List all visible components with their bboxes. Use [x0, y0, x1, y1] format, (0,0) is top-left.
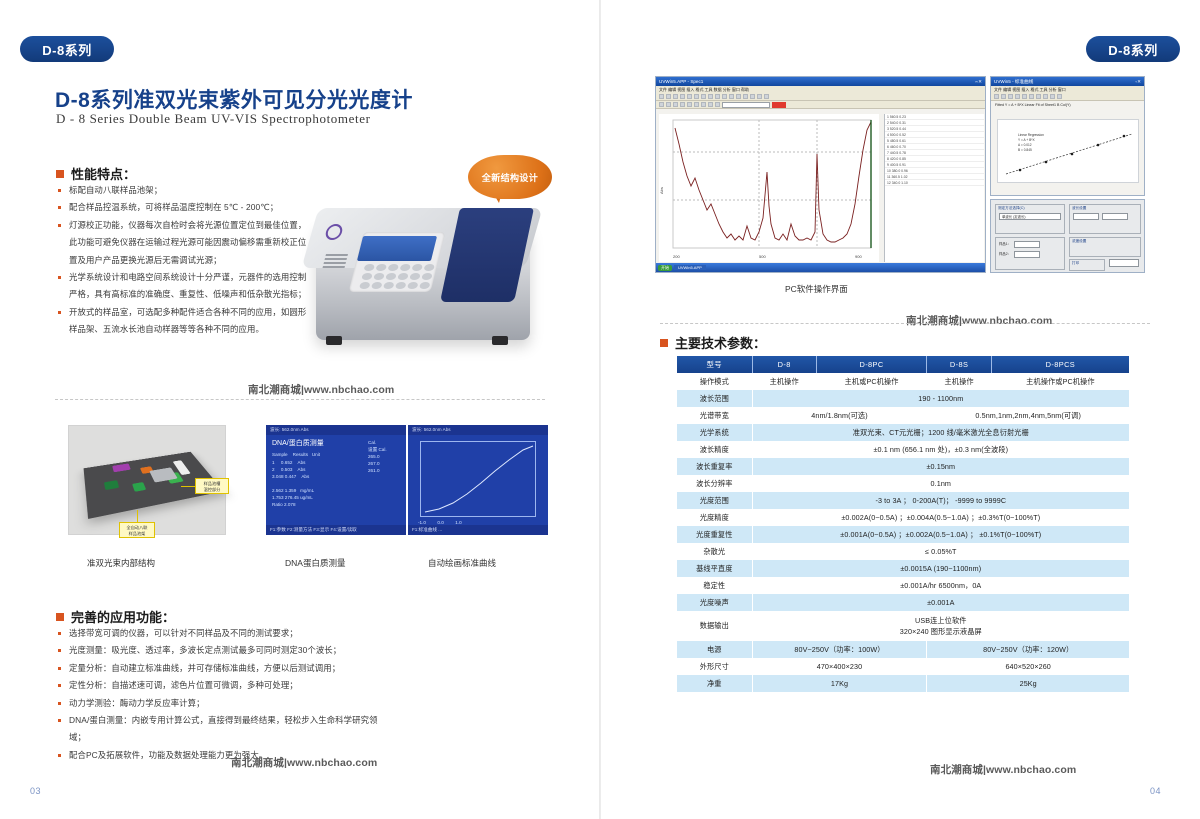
spec-row-label: 光学系统	[677, 424, 752, 441]
window-menubar: 文件 编辑 视图 插入 格式 工具 数据 分析 窗口 帮助	[656, 86, 985, 93]
table-row: 外形尺寸470×400×230640×520×260	[677, 658, 1129, 675]
sample-input-1[interactable]	[1014, 241, 1040, 248]
figure-caption: 自动绘画标准曲线	[428, 557, 496, 569]
lcd-titlebar: 波长: 562.0nm Abs	[266, 425, 406, 435]
table-row: 光度重复性±0.001A(0~0.5A) ；±0.002A(0.5~1.0A) …	[677, 526, 1129, 543]
spectrum-plot: 200 500 900 Abs	[659, 114, 879, 262]
group-samples: 样品1： 样品2：	[995, 237, 1065, 270]
spec-cell: 主机操作	[927, 373, 991, 390]
group-wavelength: 波长设置	[1069, 204, 1141, 234]
svg-text:Abs: Abs	[659, 187, 664, 194]
spec-cell: 470×400×230	[752, 658, 927, 675]
group-method-label: 测定方法选择(C)	[996, 205, 1064, 212]
instrument-vent-icon	[322, 254, 348, 270]
callout-label: 样品池槽温控部分	[195, 478, 229, 494]
sample-input-2[interactable]	[1014, 251, 1040, 258]
spec-col-header-1: D-8	[752, 356, 816, 373]
list-item: 光度测量：吸光度、透过率，多波长定点测试最多可同时测定30个波长；	[58, 642, 388, 659]
spec-cell: ±0.1 nm (656.1 nm 处)，±0.3 nm(全波段)	[752, 441, 1129, 458]
curve-plot-area	[420, 441, 536, 517]
spec-cell: 80V~250V（功率：100W）	[752, 641, 927, 658]
spec-cell: 80V~250V（功率：120W）	[927, 641, 1129, 658]
watermark: 南北潮商城|www.nbchao.com	[906, 313, 1052, 328]
spec-cell: 主机操作	[752, 373, 816, 390]
table-row: 光度噪声±0.001A	[677, 594, 1129, 611]
lcd-rows: 1 0.652 Abs 2 0.503 Abs 3.048 0.447 Abs …	[272, 459, 314, 508]
spec-cell: 25Kg	[927, 675, 1129, 692]
section-heading-performance: 性能特点：	[56, 164, 136, 183]
list-item: DNA/蛋白测量：内嵌专用计算公式，直接得到最终结果，轻松步入生命科学研究领域；	[58, 712, 388, 747]
table-row: 波长重复率±0.15nm	[677, 458, 1129, 475]
spec-cell: 主机操作或PC机操作	[991, 373, 1129, 390]
table-row: 操作模式主机操作主机或PC机操作主机操作主机操作或PC机操作	[677, 373, 1129, 390]
list-item: 标配自动八联样品池架；	[58, 182, 308, 199]
spec-cell: ±0.0015A (190~1100nm)	[752, 560, 1129, 577]
lcd-footer: F1:标准曲线 ...	[408, 525, 548, 535]
start-button[interactable]: 开始	[658, 265, 672, 271]
spec-cell: 4nm/1.8nm(可选)	[752, 407, 927, 424]
table-row: 波长精度±0.1 nm (656.1 nm 处)，±0.3 nm(全波段)	[677, 441, 1129, 458]
spec-cell: ±0.001A(0~0.5A) ；±0.002A(0.5~1.0A) ； ±0.…	[752, 526, 1129, 543]
window-toolbar	[991, 93, 1144, 101]
page-title-cn: D-8系列准双光束紫外可见分光光度计	[55, 84, 413, 114]
spec-row-label: 净重	[677, 675, 752, 692]
spec-cell: ±0.002A(0~0.5A) ；±0.004A(0.5~1.0A) ；±0.3…	[752, 509, 1129, 526]
divider	[55, 399, 545, 400]
bullet-square-icon	[56, 613, 64, 621]
header-tab-left: D-8系列	[20, 36, 114, 62]
figure-row: 样品池槽温控部分 全自动八联样品池架 波长: 562.0nm Abs DNA/蛋…	[68, 425, 548, 545]
header-tab-right: D-8系列	[1086, 36, 1180, 62]
window-titlebar: UVWin5 - 标准曲线 ▫✕	[991, 77, 1144, 86]
table-row: 波长范围190 - 1100nm	[677, 390, 1129, 407]
figure-dna-measurement: 波长: 562.0nm Abs DNA/蛋白质测量 Sample Results…	[266, 425, 406, 535]
table-row: 稳定性±0.001A/hr 6500nm，0A	[677, 577, 1129, 594]
instrument-keypad	[359, 264, 435, 289]
page-number: 04	[1150, 786, 1161, 796]
new-design-badge: 全新结构设计	[468, 155, 552, 199]
svg-text:Linear Regression: Linear Regression	[1018, 133, 1044, 137]
window-title: UVWin5.APP - Spec1	[659, 79, 703, 84]
lcd-titlebar: 波长: 562.0nm Abs	[408, 425, 548, 435]
list-item: 动力学测验：酶动力学反应率计算；	[58, 695, 388, 712]
lcd-footer: F1:参数 F2:测量方法 F3:显示 F4:设置/读取	[266, 525, 406, 535]
lcd-title: DNA/蛋白质测量	[272, 438, 324, 448]
standard-curve-line	[421, 442, 537, 518]
spec-row-label: 电源	[677, 641, 752, 658]
spec-cell: USB连上位软件320×240 图形显示液晶屏	[752, 611, 1129, 641]
instrument-foot	[492, 336, 508, 345]
section-heading-applications: 完善的应用功能：	[56, 607, 175, 626]
window-menubar: 文件 编辑 视图 插入 格式 工具 分析 窗口	[991, 86, 1144, 93]
svg-text:900: 900	[855, 254, 862, 259]
table-row: 基线平直度±0.0015A (190~1100nm)	[677, 560, 1129, 577]
spec-table: 型号D-8D-8PCD-8SD-8PCS 操作模式主机操作主机或PC机操作主机操…	[677, 356, 1129, 692]
fit-subtitle: Fitted Y = A + B*X Linear Fit of Sheet1 …	[991, 101, 1144, 109]
table-row: 光谱带宽4nm/1.8nm(可选)0.5nm,1nm,2nm,4nm,5nm(可…	[677, 407, 1129, 424]
spec-cell: ±0.001A/hr 6500nm，0A	[752, 577, 1129, 594]
figure-internal-structure: 样品池槽温控部分 全自动八联样品池架	[68, 425, 226, 535]
bullet-square-icon	[56, 170, 64, 178]
section-heading-applications-label: 完善的应用功能：	[71, 607, 175, 626]
section-heading-performance-label: 性能特点：	[71, 164, 136, 183]
applications-list: 选择带宽可调的仪器，可以针对不同样品及不同的测试要求； 光度测量：吸光度、透过率…	[58, 625, 388, 764]
bullet-square-icon	[660, 339, 668, 347]
print-select-wrap	[1109, 259, 1141, 271]
spec-cell: 640×520×260	[927, 658, 1129, 675]
table-header-row: 型号D-8D-8PCD-8SD-8PCS	[677, 356, 1129, 373]
window-titlebar: UVWin5.APP - Spec1 ▫▫✕	[656, 77, 985, 86]
windows-taskbar[interactable]: 开始 UVWin5.APP	[656, 263, 985, 272]
svg-text:Y = A + B*X: Y = A + B*X	[1018, 138, 1035, 142]
window-controls-icon: ▫✕	[1136, 79, 1141, 85]
table-row: 光度精度±0.002A(0~0.5A) ；±0.004A(0.5~1.0A) ；…	[677, 509, 1129, 526]
brochure-page: D-8系列 D-8系列 D-8系列准双光束紫外可见分光光度计 D - 8 Ser…	[0, 0, 1200, 819]
spec-row-label: 波长精度	[677, 441, 752, 458]
instrument-photo	[300, 180, 550, 370]
page-gutter	[599, 0, 601, 819]
screenshot-linear-fit-window: UVWin5 - 标准曲线 ▫✕ 文件 编辑 视图 插入 格式 工具 分析 窗口…	[990, 76, 1145, 196]
linear-fit-plot: Linear Regression Y = A + B*X A = 0.012 …	[997, 119, 1139, 183]
spec-cell: 0.1nm	[752, 475, 1129, 492]
spec-cell: ≤ 0.05%T	[752, 543, 1129, 560]
linear-fit-line: Linear Regression Y = A + B*X A = 0.012 …	[998, 120, 1140, 184]
window-toolbar-row2	[656, 101, 985, 109]
screenshot-parameter-panel: 测定方法选择(C) 单波长 (定波长) 波长设置 样品1： 样品2： 浓度设置 …	[990, 199, 1145, 273]
table-row: 光学系统准双光束、CT元光栅；1200 线/毫米激光全息衍射光栅	[677, 424, 1129, 441]
performance-list: 标配自动八联样品池架； 配合样品控温系统，可将样品温度控制在 5℃ - 200℃…	[58, 182, 308, 339]
svg-text:B = 0.845: B = 0.845	[1018, 148, 1032, 152]
spec-row-label: 波长重复率	[677, 458, 752, 475]
lcd-column-headers: Sample Results Unit	[272, 451, 320, 458]
group-print: 打印	[1069, 259, 1105, 271]
list-item: 灯源校正功能，仪器每次自检时会将光源位置定位到最佳位置，此功能可避免仪器在运输过…	[58, 217, 308, 269]
spec-row-label: 稳定性	[677, 577, 752, 594]
spec-cell: ±0.15nm	[752, 458, 1129, 475]
spec-row-label: 杂散光	[677, 543, 752, 560]
spec-col-header-0: 型号	[677, 356, 752, 373]
spec-cell: 准双光束、CT元光栅；1200 线/毫米激光全息衍射光栅	[752, 424, 1129, 441]
svg-text:200: 200	[673, 254, 680, 259]
section-heading-spec-label: 主要技术参数：	[675, 333, 766, 352]
spec-row-label: 波长范围	[677, 390, 752, 407]
spec-row-label: 光度范围	[677, 492, 752, 509]
spec-row-label: 波长分辨率	[677, 475, 752, 492]
group-wavelength-label: 波长设置	[1070, 205, 1140, 212]
window-toolbar-row1	[656, 93, 985, 101]
spec-col-header-2: D-8PC	[816, 356, 927, 373]
spec-row-label: 光度噪声	[677, 594, 752, 611]
table-row: 电源80V~250V（功率：100W）80V~250V（功率：120W）	[677, 641, 1129, 658]
spec-cell: 0.5nm,1nm,2nm,4nm,5nm(可调)	[927, 407, 1129, 424]
table-row: 杂散光≤ 0.05%T	[677, 543, 1129, 560]
badge-label: 全新结构设计	[482, 171, 538, 184]
method-select[interactable]: 单波长 (定波长)	[999, 213, 1061, 220]
divider	[660, 323, 1150, 324]
group-method: 测定方法选择(C) 单波长 (定波长)	[995, 204, 1065, 234]
window-controls-icon: ▫▫✕	[975, 79, 982, 85]
table-row: 波长分辨率0.1nm	[677, 475, 1129, 492]
spec-col-header-3: D-8S	[927, 356, 991, 373]
wavelength-input-1[interactable]	[1073, 213, 1099, 220]
figure-standard-curve: 波长: 562.0nm Abs -1.0 0.0 1.0 F1:标准曲线 ...	[408, 425, 548, 535]
figure-caption: DNA蛋白质测量	[285, 557, 345, 569]
lcd-side-values: Cal.设置 Cal.265.0267.0261.0	[368, 439, 387, 474]
screenshot-spectrum-window: UVWin5.APP - Spec1 ▫▫✕ 文件 编辑 视图 插入 格式 工具…	[655, 76, 986, 273]
page-title-en: D - 8 Series Double Beam UV-VIS Spectrop…	[56, 111, 371, 127]
window-title: UVWin5 - 标准曲线	[994, 79, 1033, 85]
list-item: 定性分析：自描述速可调，滤色片位置可微调，多种可处理；	[58, 677, 388, 694]
instrument-foot	[326, 336, 342, 345]
callout-label: 全自动八联样品池架	[119, 522, 155, 538]
spec-row-label: 光谱带宽	[677, 407, 752, 424]
spec-cell: ±0.001A	[752, 594, 1129, 611]
spec-col-header-4: D-8PCS	[991, 356, 1129, 373]
print-select[interactable]	[1109, 259, 1139, 267]
spec-row-label: 光度精度	[677, 509, 752, 526]
screenshot-caption: PC软件操作界面	[785, 283, 848, 295]
watermark: 南北潮商城|www.nbchao.com	[930, 762, 1076, 777]
spec-row-label: 数据输出	[677, 611, 752, 641]
group-print-label: 打印	[1070, 260, 1104, 267]
list-item: 选择带宽可调的仪器，可以针对不同样品及不同的测试要求；	[58, 625, 388, 642]
badge-bubble: 全新结构设计	[468, 155, 552, 199]
list-item: 配合样品控温系统，可将样品温度控制在 5℃ - 200℃；	[58, 199, 308, 216]
table-row: 净重17Kg25Kg	[677, 675, 1129, 692]
group-concentration-label: 浓度设置	[1070, 238, 1140, 245]
svg-text:A = 0.012: A = 0.012	[1018, 143, 1032, 147]
table-row: 光度范围-3 to 3A ； 0-200A(T)； -9999 to 9999C	[677, 492, 1129, 509]
spec-cell: 主机或PC机操作	[816, 373, 927, 390]
taskbar-item[interactable]: UVWin5.APP	[674, 265, 706, 270]
instrument-display-screen	[357, 236, 437, 261]
watermark: 南北潮商城|www.nbchao.com	[231, 755, 377, 770]
figure-caption: 准双光束内部结构	[87, 557, 155, 569]
group-concentration: 浓度设置	[1069, 237, 1141, 257]
spec-cell: 190 - 1100nm	[752, 390, 1129, 407]
svg-text:500: 500	[759, 254, 766, 259]
table-row: 数据输出USB连上位软件320×240 图形显示液晶屏	[677, 611, 1129, 641]
list-item: 开放式的样品室，可选配多种配件适合各种不同的应用，如圆形样品架、五流水长池自动样…	[58, 304, 308, 339]
spec-row-label: 外形尺寸	[677, 658, 752, 675]
watermark: 南北潮商城|www.nbchao.com	[248, 382, 394, 397]
spectrum-curve: 200 500 900 Abs	[659, 114, 879, 262]
spec-row-label: 光度重复性	[677, 526, 752, 543]
spec-cell: 17Kg	[752, 675, 927, 692]
spec-row-label: 操作模式	[677, 373, 752, 390]
spectrum-data-table: 1 560.5 0.232 540.0 0.313 520.5 0.44 4 5…	[884, 114, 984, 262]
section-heading-spec: 主要技术参数：	[660, 333, 766, 352]
spec-cell: -3 to 3A ； 0-200A(T)； -9999 to 9999C	[752, 492, 1129, 509]
list-item: 光学系统设计和电路空间系统设计十分严谨，元器件的选用控制严格，具有高标准的准确度…	[58, 269, 308, 304]
callout-line	[137, 510, 138, 522]
list-item: 定量分析：自动建立标准曲线，并可存储标准曲线，方便以后测试调用；	[58, 660, 388, 677]
spec-row-label: 基线平直度	[677, 560, 752, 577]
page-number: 03	[30, 786, 41, 796]
wavelength-input-2[interactable]	[1102, 213, 1128, 220]
